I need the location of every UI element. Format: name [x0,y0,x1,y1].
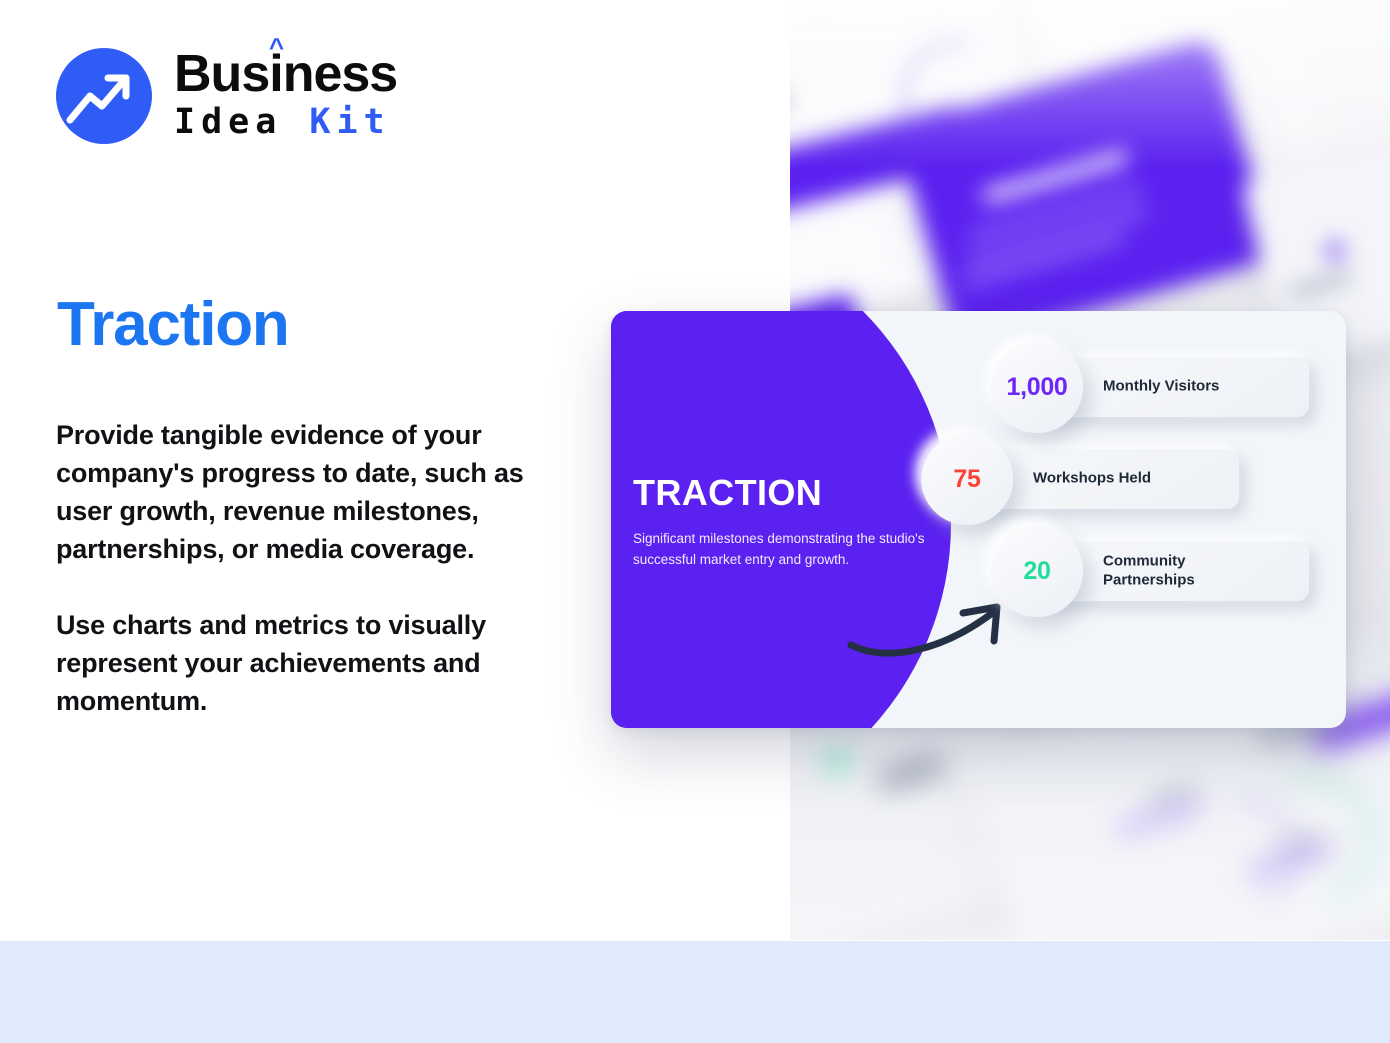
bottom-band [0,941,1390,1043]
metric-label: Workshops Held [1033,470,1151,489]
slide-title: TRACTION [633,475,933,511]
metric-label: Community Partnerships [1103,552,1195,590]
growth-arrow-circle-icon [56,48,152,144]
page-title: Traction [57,294,289,356]
body-paragraph-2: Use charts and metrics to visually repre… [56,606,566,720]
metric-value: 20 [1023,557,1050,586]
brand-circumflex-accent: i^ [269,50,282,99]
brand-idea-text: Idea [174,102,282,142]
body-paragraph-1: Provide tangible evidence of your compan… [56,416,566,568]
metric-circle: 75 [921,433,1013,525]
metrics-list: Monthly Visitors 1,000 Workshops Held 75… [981,341,1341,617]
metric-row-monthly-visitors[interactable]: Monthly Visitors 1,000 [991,341,1341,433]
metric-circle: 1,000 [991,341,1083,433]
slide-page: Busi^ness Idea Kit Traction Provide tang… [0,0,1390,1043]
caret-icon: ^ [269,34,283,60]
slide-heading-group: TRACTION Significant milestones demonstr… [633,475,933,571]
brand-kit-text: Kit [309,102,390,142]
metric-label: Monthly Visitors [1103,378,1219,397]
metric-value: 75 [953,465,980,494]
slide-preview-card[interactable]: TRACTION Significant milestones demonstr… [611,311,1346,728]
metric-value: 1,000 [1006,373,1067,402]
metric-row-community-partnerships[interactable]: Community Partnerships 20 [991,525,1341,617]
metric-row-workshops-held[interactable]: Workshops Held 75 [921,433,1341,525]
brand-wordmark: Busi^ness Idea Kit [174,50,397,142]
brand-line-business: Busi^ness [174,50,397,99]
page-body: Provide tangible evidence of your compan… [56,416,566,720]
metric-circle: 20 [991,525,1083,617]
brand-line-ideakit: Idea Kit [174,102,397,142]
slide-subtitle: Significant milestones demonstrating the… [633,529,933,571]
brand-line-business-text: Busi^ness [174,45,397,103]
brand-logo: Busi^ness Idea Kit [56,48,397,144]
